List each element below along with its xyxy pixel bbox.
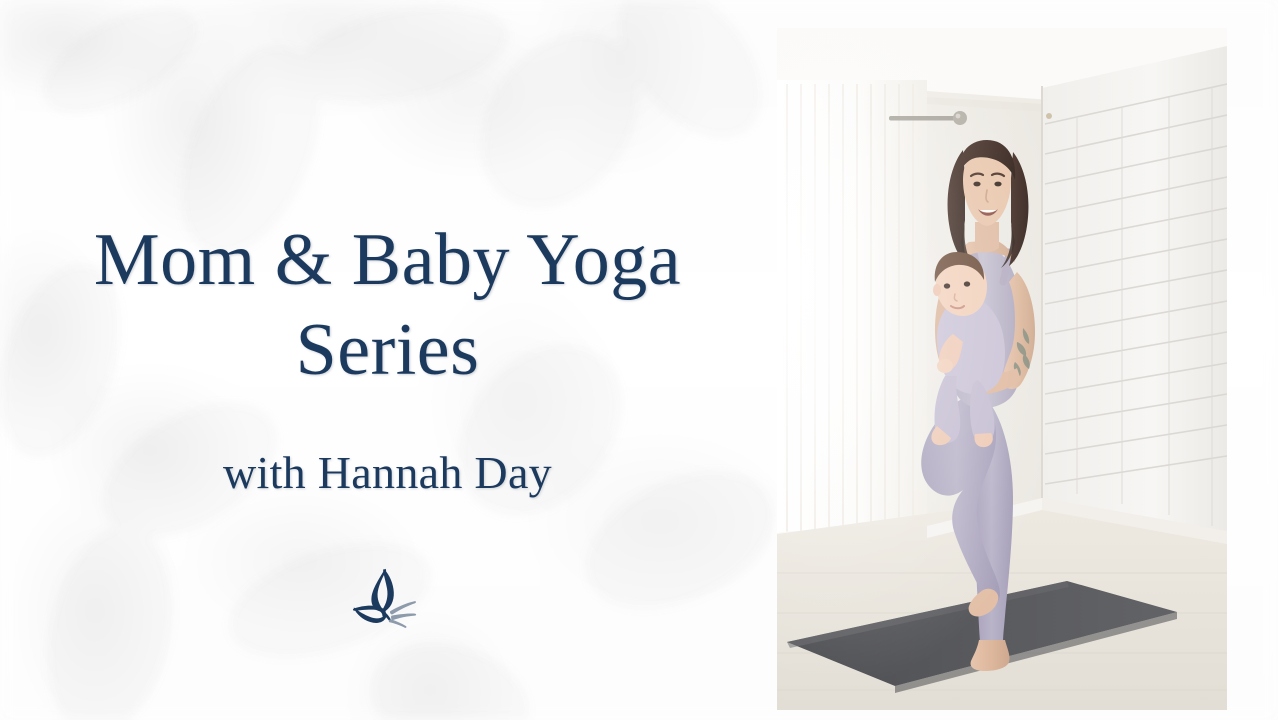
title-line-2: Series bbox=[38, 305, 738, 395]
title-block: Mom & Baby Yoga Series with Hannah Day bbox=[0, 0, 775, 720]
page-title: Mom & Baby Yoga Series bbox=[38, 215, 738, 396]
slide-canvas: Mom & Baby Yoga Series with Hannah Day bbox=[0, 0, 1278, 720]
title-line-1: Mom & Baby Yoga bbox=[38, 215, 738, 305]
instructor-photo bbox=[777, 28, 1227, 710]
instructor-subtitle: with Hannah Day bbox=[223, 446, 552, 499]
brand-logo bbox=[333, 555, 443, 645]
butterfly-icon bbox=[340, 560, 436, 640]
